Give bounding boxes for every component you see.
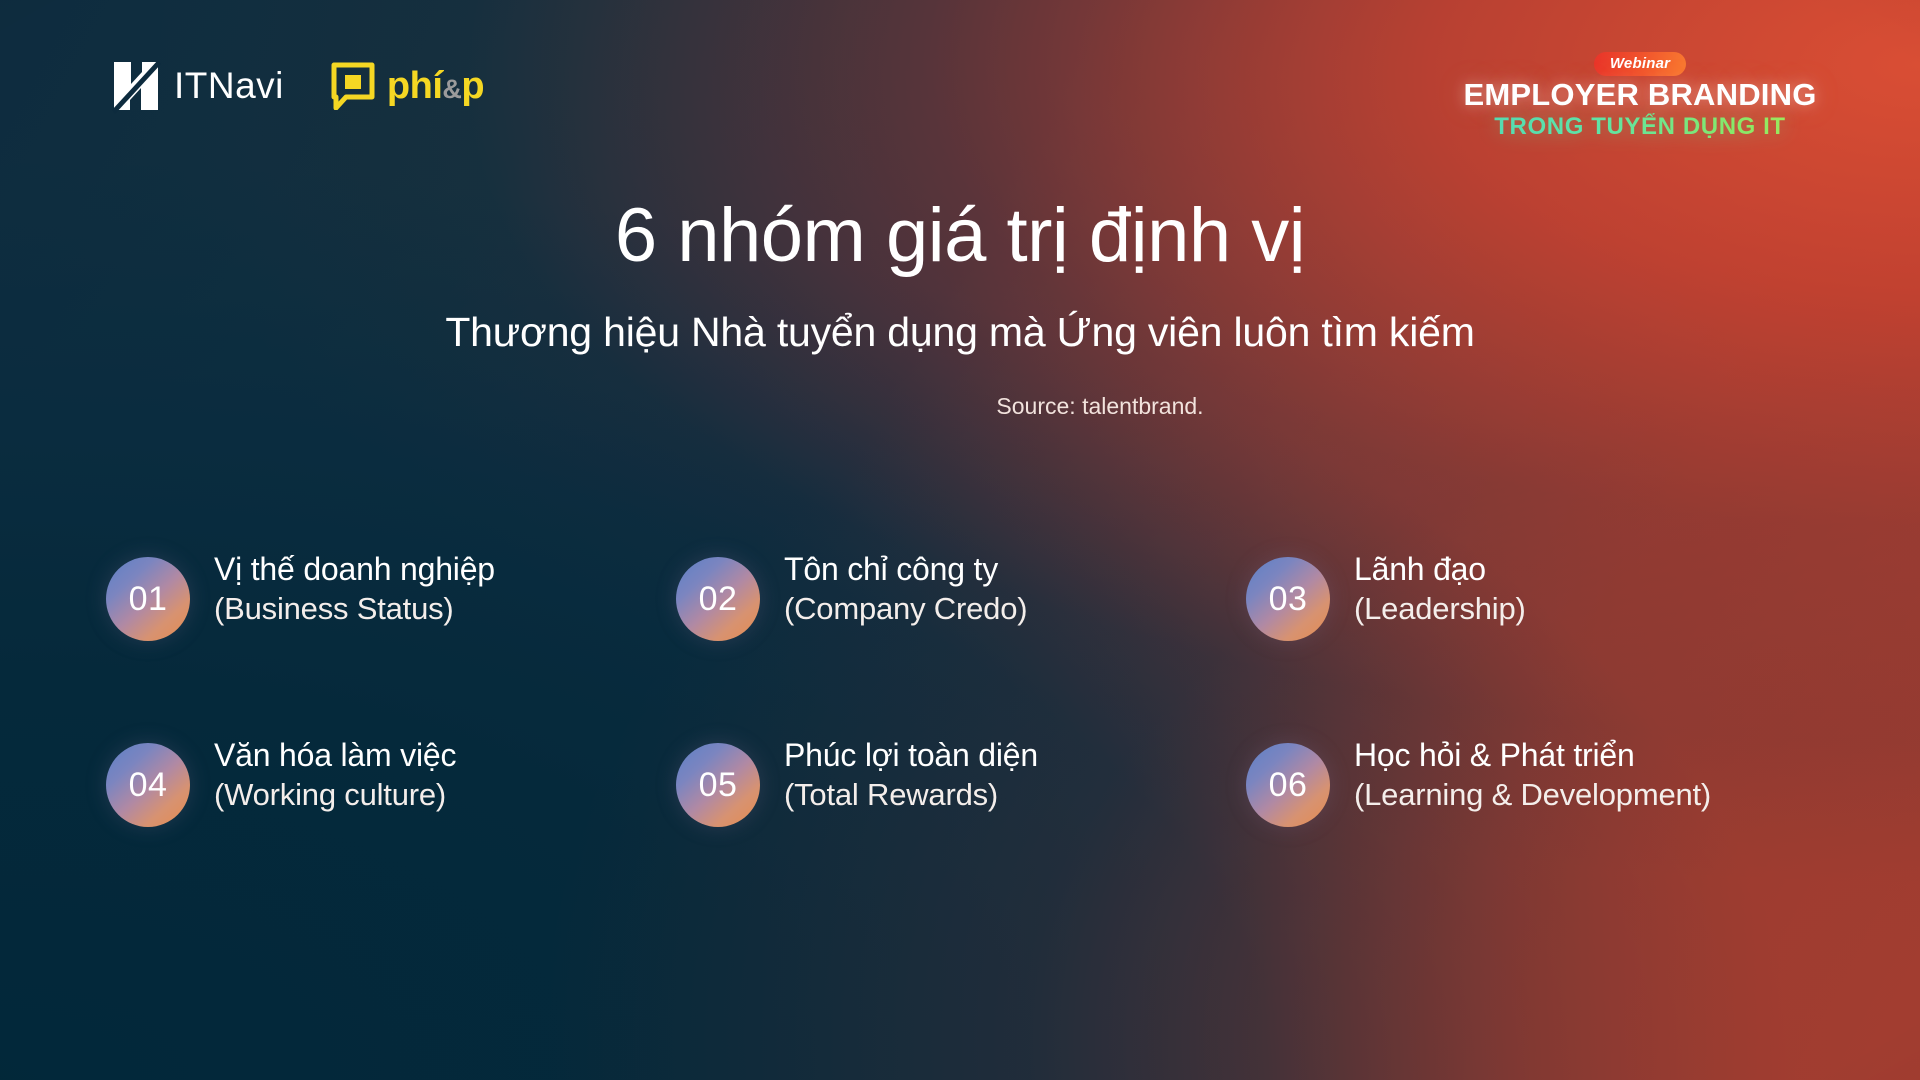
logo-row: ITNavi phí&p	[108, 58, 484, 114]
value-item-01: 01 Vị thế doanh nghiệp (Business Status)	[106, 545, 672, 723]
webinar-subtitle: TRONG TUYỂN DỤNG IT	[1430, 113, 1850, 142]
value-number-badge: 04	[106, 743, 190, 827]
slide-canvas: ITNavi phí&p Webinar EMPLOYER BRANDING T…	[0, 0, 1920, 1080]
value-number-badge: 02	[676, 557, 760, 641]
source-credit: Source: talentbrand.	[0, 393, 1920, 420]
webinar-block: Webinar EMPLOYER BRANDING TRONG TUYỂN DỤ…	[1430, 52, 1850, 142]
value-label-vi: Vị thế doanh nghiệp	[214, 549, 495, 589]
value-label-en: (Working culture)	[214, 775, 456, 814]
value-label-en: (Leadership)	[1354, 589, 1526, 628]
value-label-en: (Learning & Development)	[1354, 775, 1711, 814]
phiep-logo: phí&p	[330, 62, 484, 110]
value-item-04: 04 Văn hóa làm việc (Working culture)	[106, 723, 672, 901]
value-item-05: 05 Phúc lợi toàn diện (Total Rewards)	[672, 723, 1238, 901]
webinar-title: EMPLOYER BRANDING	[1430, 78, 1850, 113]
value-number-badge: 03	[1246, 557, 1330, 641]
page-subtitle: Thương hiệu Nhà tuyển dụng mà Ứng viên l…	[0, 308, 1920, 357]
value-item-03: 03 Lãnh đạo (Leadership)	[1238, 545, 1866, 723]
value-number-badge: 06	[1246, 743, 1330, 827]
itnavi-logo: ITNavi	[108, 58, 284, 114]
value-number-badge: 05	[676, 743, 760, 827]
value-label-vi: Phúc lợi toàn diện	[784, 735, 1038, 775]
value-item-text: Văn hóa làm việc (Working culture)	[214, 731, 456, 814]
value-label-vi: Lãnh đạo	[1354, 549, 1526, 589]
itnavi-logo-mark	[108, 58, 164, 114]
phiep-prefix: phí	[387, 65, 442, 108]
value-item-text: Học hỏi & Phát triển (Learning & Develop…	[1354, 731, 1711, 814]
value-label-vi: Tôn chỉ công ty	[784, 549, 1027, 589]
speech-bubble-icon	[330, 62, 376, 110]
value-item-text: Lãnh đạo (Leadership)	[1354, 545, 1526, 628]
value-item-text: Tôn chỉ công ty (Company Credo)	[784, 545, 1027, 628]
value-groups-grid: 01 Vị thế doanh nghiệp (Business Status)…	[106, 545, 1866, 901]
webinar-badge: Webinar	[1594, 52, 1686, 76]
value-label-en: (Business Status)	[214, 589, 495, 628]
phiep-wordmark: phí&p	[387, 65, 484, 108]
value-label-vi: Văn hóa làm việc	[214, 735, 456, 775]
vignette-overlay	[0, 0, 1920, 1080]
phiep-suffix: p	[461, 65, 484, 108]
value-item-text: Phúc lợi toàn diện (Total Rewards)	[784, 731, 1038, 814]
value-label-vi: Học hỏi & Phát triển	[1354, 735, 1711, 775]
value-label-en: (Total Rewards)	[784, 775, 1038, 814]
value-label-en: (Company Credo)	[784, 589, 1027, 628]
page-title: 6 nhóm giá trị định vị	[0, 196, 1920, 276]
value-item-02: 02 Tôn chỉ công ty (Company Credo)	[672, 545, 1238, 723]
value-number-badge: 01	[106, 557, 190, 641]
value-item-06: 06 Học hỏi & Phát triển (Learning & Deve…	[1238, 723, 1866, 901]
value-item-text: Vị thế doanh nghiệp (Business Status)	[214, 545, 495, 628]
phiep-ampersand: &	[442, 74, 461, 105]
itnavi-wordmark: ITNavi	[174, 65, 284, 107]
